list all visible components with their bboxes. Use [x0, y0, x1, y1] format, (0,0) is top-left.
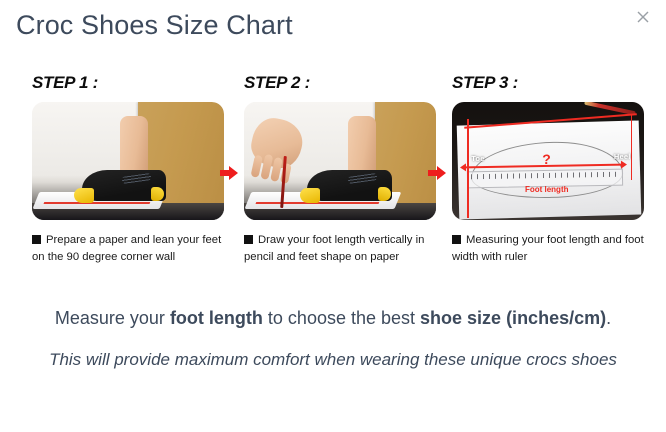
arrow-head: [437, 166, 446, 180]
steps-strip: STEP 1 : Prepare a paper and lean your f…: [0, 72, 666, 294]
step-image-1: [32, 102, 224, 220]
step-caption-2: Draw your foot length vertically in penc…: [244, 232, 440, 266]
bullet-square-icon: [452, 235, 461, 244]
close-button[interactable]: [630, 4, 656, 30]
red-guide-left: [467, 119, 469, 218]
step-image-3: Toe Heel ? Foot length: [452, 102, 644, 220]
sock-stripe: [122, 173, 151, 184]
step-caption-3-text: Measuring your foot length and foot widt…: [452, 234, 644, 263]
sock-stripe: [348, 173, 377, 184]
arrow-head: [229, 166, 238, 180]
bullet-square-icon: [244, 235, 253, 244]
toe-highlight: [74, 188, 94, 203]
footer-note: This will provide maximum comfort when w…: [30, 346, 636, 374]
step-column-1: STEP 1 : Prepare a paper and lean your f…: [24, 72, 232, 294]
footer-text-part2: to choose the best: [263, 308, 420, 328]
footer-instruction: Measure your foot length to choose the b…: [0, 305, 666, 331]
heel-label: Heel: [614, 152, 631, 161]
footer-text-part3: .: [606, 308, 611, 328]
footer-bold-foot-length: foot length: [170, 308, 263, 328]
toe-label: Toe: [471, 154, 484, 163]
step-column-3: STEP 3 : Toe Heel ? Foot length Measurin…: [444, 72, 652, 294]
step-caption-1-text: Prepare a paper and lean your feet on th…: [32, 234, 221, 263]
step-caption-3: Measuring your foot length and foot widt…: [452, 232, 648, 266]
footer-text-part1: Measure your: [55, 308, 170, 328]
close-icon: [630, 4, 656, 30]
modal-header: Croc Shoes Size Chart: [0, 0, 666, 60]
step-label-1: STEP 1 :: [32, 72, 232, 94]
bullet-square-icon: [32, 235, 41, 244]
step-caption-1: Prepare a paper and lean your feet on th…: [32, 232, 228, 266]
step-label-3: STEP 3 :: [452, 72, 652, 94]
toe-highlight: [300, 188, 320, 203]
footer-bold-shoe-size: shoe size (inches/cm): [420, 308, 606, 328]
arrow-right-icon-1: [220, 165, 238, 181]
step-image-2: [244, 102, 436, 220]
arrow-right-icon-2: [428, 165, 446, 181]
page-title: Croc Shoes Size Chart: [16, 10, 293, 41]
step-caption-2-text: Draw your foot length vertically in penc…: [244, 234, 424, 263]
step-label-2: STEP 2 :: [244, 72, 444, 94]
foot-length-label: Foot length: [525, 185, 569, 194]
step-column-2: STEP 2 : Draw your foot length verti: [236, 72, 444, 294]
paper-red-line: [43, 202, 149, 204]
red-guide-right: [631, 114, 633, 180]
question-mark-label: ?: [542, 152, 551, 166]
